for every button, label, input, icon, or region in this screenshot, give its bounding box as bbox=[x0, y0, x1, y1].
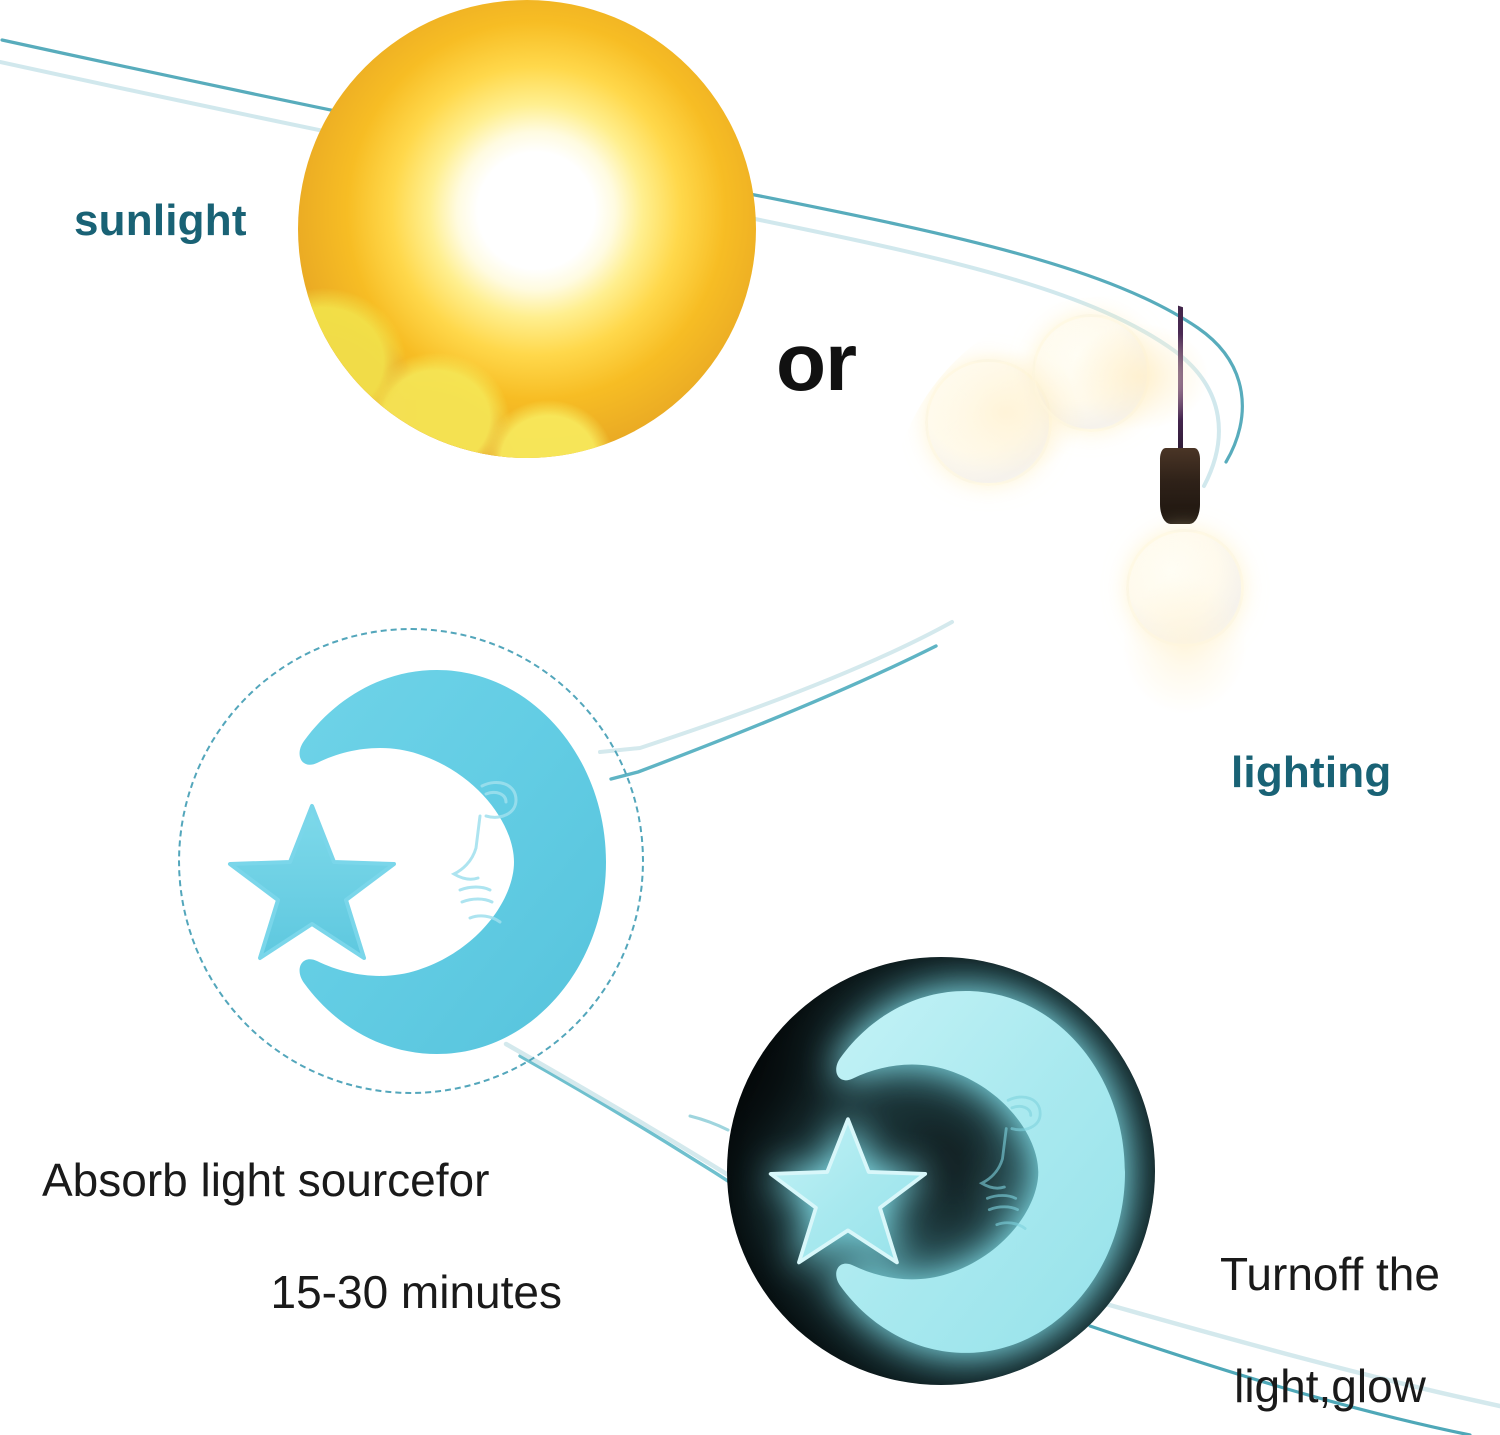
sun-disc bbox=[298, 0, 756, 458]
bulb-glass-top bbox=[1032, 314, 1150, 432]
or-label: or bbox=[776, 316, 856, 410]
glow-moon-star bbox=[771, 1119, 926, 1262]
lightbulb-photo-disc bbox=[889, 296, 1337, 744]
turnoff-line-2: light,glow bbox=[1234, 1360, 1426, 1412]
bulb-glass-bottom bbox=[1126, 529, 1244, 647]
bulb-cord bbox=[1178, 296, 1183, 453]
moon-star-icon bbox=[224, 666, 606, 1056]
absorb-instruction: Absorb light sourcefor 15-30 minutes bbox=[42, 1096, 562, 1377]
turnoff-line-1: Turnoff the bbox=[1220, 1248, 1440, 1300]
glowing-moon-star-icon bbox=[765, 985, 1125, 1357]
turnoff-instruction: Turnoff the light,glow in the dark bbox=[1180, 1190, 1480, 1435]
bulb-glass-left bbox=[925, 359, 1052, 486]
sun-icon bbox=[298, 0, 756, 458]
lightbulb-icon bbox=[889, 296, 1337, 744]
sunlight-label: sunlight bbox=[74, 196, 247, 246]
absorb-line-2: 15-30 minutes bbox=[42, 1264, 562, 1320]
connector-glow-left-stub bbox=[690, 1116, 728, 1130]
lighting-label: lighting bbox=[1231, 748, 1391, 798]
moon-charging-circle bbox=[178, 628, 644, 1094]
absorb-line-1: Absorb light sourcefor bbox=[42, 1152, 562, 1208]
glow-in-dark-circle bbox=[727, 957, 1155, 1385]
connector-moon-to-bulb-dark bbox=[611, 646, 936, 779]
bulb-socket bbox=[1160, 448, 1200, 524]
infographic-canvas: sunlight lighting or Absorb light source… bbox=[0, 0, 1500, 1435]
moon-star bbox=[230, 806, 394, 958]
sun-cloud-rim bbox=[298, 256, 646, 458]
glow-dark-background bbox=[727, 957, 1155, 1385]
